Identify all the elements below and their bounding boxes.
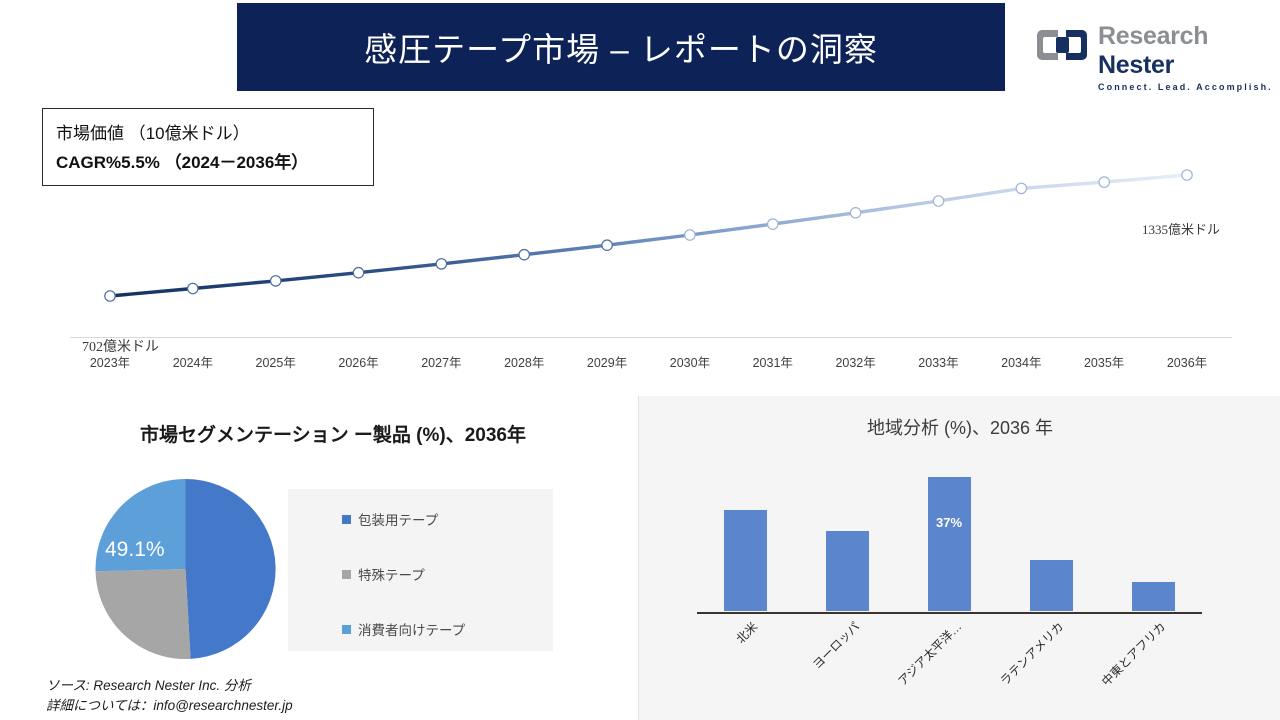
bar-x-axis-label: 北米 xyxy=(732,618,761,647)
bar-data-label: 37% xyxy=(936,515,962,530)
logo-tagline: Connect. Lead. Accomplish. xyxy=(1098,82,1273,92)
bar-chart-x-axis-labels: 北米ヨーロッパアジア太平洋…ラテンアメリカ中東とアフリカ xyxy=(694,618,1204,698)
line-chart-axis xyxy=(70,337,1232,338)
line-data-point xyxy=(933,196,943,206)
legend-label: 包装用テープ xyxy=(358,509,438,529)
title-banner: 感圧テープ市場 – レポートの洞察 xyxy=(237,3,1005,91)
legend-item-packaging[interactable]: 包装用テープ xyxy=(342,509,438,529)
line-data-point xyxy=(850,208,860,218)
pie-data-label: 49.1% xyxy=(105,538,165,562)
legend-swatch-icon xyxy=(342,625,351,634)
line-data-point xyxy=(188,283,198,293)
legend-swatch-icon xyxy=(342,515,351,524)
logo-word-research: Research xyxy=(1098,22,1208,50)
bar-column xyxy=(826,531,869,611)
bar-x-axis-label: ラテンアメリカ xyxy=(996,618,1067,689)
research-nester-logo: Research Nester Connect. Lead. Accomplis… xyxy=(1036,22,1252,72)
pie-slice xyxy=(96,569,191,659)
x-axis-tick-label: 2025年 xyxy=(256,352,296,371)
legend-item-specialty[interactable]: 特殊テープ xyxy=(342,564,425,584)
pie-chart-svg xyxy=(93,478,278,660)
infographic-page: 感圧テープ市場 – レポートの洞察 Research Nester Connec… xyxy=(0,0,1280,720)
legend-label: 特殊テープ xyxy=(358,564,425,584)
bar-column xyxy=(1132,582,1175,611)
line-end-value-label: 1335億米ドル xyxy=(1142,219,1220,238)
legend-swatch-icon xyxy=(342,570,351,579)
x-axis-tick-label: 2035年 xyxy=(1084,352,1124,371)
source-line-1: ソース: Research Nester Inc. 分析 xyxy=(46,676,293,696)
line-data-point xyxy=(1182,170,1192,180)
legend-label: 消費者向けテープ xyxy=(358,619,465,639)
regional-bar-chart: 37% xyxy=(694,466,1204,611)
regional-analysis-panel: 地域分析 (%)、2036 年 37% 北米ヨーロッパアジア太平洋…ラテンアメリ… xyxy=(638,396,1280,720)
line-data-point xyxy=(436,259,446,269)
logo-word-nester: Nester xyxy=(1098,51,1174,79)
x-axis-tick-label: 2027年 xyxy=(421,352,461,371)
x-axis-tick-label: 2026年 xyxy=(338,352,378,371)
line-data-point xyxy=(105,291,115,301)
logo-wordmark: Research Nester Connect. Lead. Accomplis… xyxy=(1098,22,1273,92)
market-value-line-chart: 702億米ドル 1335億米ドル xyxy=(0,95,1280,385)
bar-x-axis-label: アジア太平洋… xyxy=(894,618,965,689)
line-data-point xyxy=(271,276,281,286)
line-data-point xyxy=(1016,183,1026,193)
line-data-point xyxy=(519,250,529,260)
bar-column: 37% xyxy=(928,477,971,611)
source-line-2: 詳細については：info@researchnester.jp xyxy=(46,696,293,716)
line-data-point xyxy=(685,230,695,240)
line-data-point xyxy=(353,268,363,278)
x-axis-tick-label: 2033年 xyxy=(918,352,958,371)
segmentation-pie-chart xyxy=(93,478,278,660)
bar-x-axis-label: ヨーロッパ xyxy=(809,618,863,672)
line-data-point xyxy=(602,240,612,250)
line-data-point xyxy=(768,219,778,229)
x-axis-tick-label: 2029年 xyxy=(587,352,627,371)
line-data-point xyxy=(1099,177,1109,187)
source-note: ソース: Research Nester Inc. 分析 詳細については：inf… xyxy=(46,676,293,716)
page-title: 感圧テープ市場 – レポートの洞察 xyxy=(364,23,878,71)
bar-x-axis-label: 中東とアフリカ xyxy=(1098,618,1169,689)
x-axis-tick-label: 2023年 xyxy=(90,352,130,371)
regional-analysis-title: 地域分析 (%)、2036 年 xyxy=(639,414,1280,440)
bar-column xyxy=(1030,560,1073,611)
x-axis-tick-label: 2024年 xyxy=(173,352,213,371)
legend-item-consumer[interactable]: 消費者向けテープ xyxy=(342,619,465,639)
pie-slice xyxy=(186,479,276,659)
bar-column xyxy=(724,510,767,612)
x-axis-tick-label: 2036年 xyxy=(1167,352,1207,371)
segmentation-title: 市場セグメンテーション ー製品 (%)、2036年 xyxy=(140,420,526,447)
x-axis-tick-label: 2032年 xyxy=(835,352,875,371)
x-axis-tick-label: 2028年 xyxy=(504,352,544,371)
bar-chart-baseline xyxy=(697,612,1202,614)
logo-mark-icon xyxy=(1036,28,1090,62)
x-axis-tick-label: 2034年 xyxy=(1001,352,1041,371)
pie-legend: 包装用テープ 特殊テープ 消費者向けテープ xyxy=(288,489,553,651)
x-axis-tick-label: 2031年 xyxy=(753,352,793,371)
x-axis-tick-label: 2030年 xyxy=(670,352,710,371)
line-chart-svg xyxy=(0,95,1280,385)
line-chart-x-axis-labels: 2023年2024年2025年2026年2027年2028年2029年2030年… xyxy=(70,352,1232,374)
